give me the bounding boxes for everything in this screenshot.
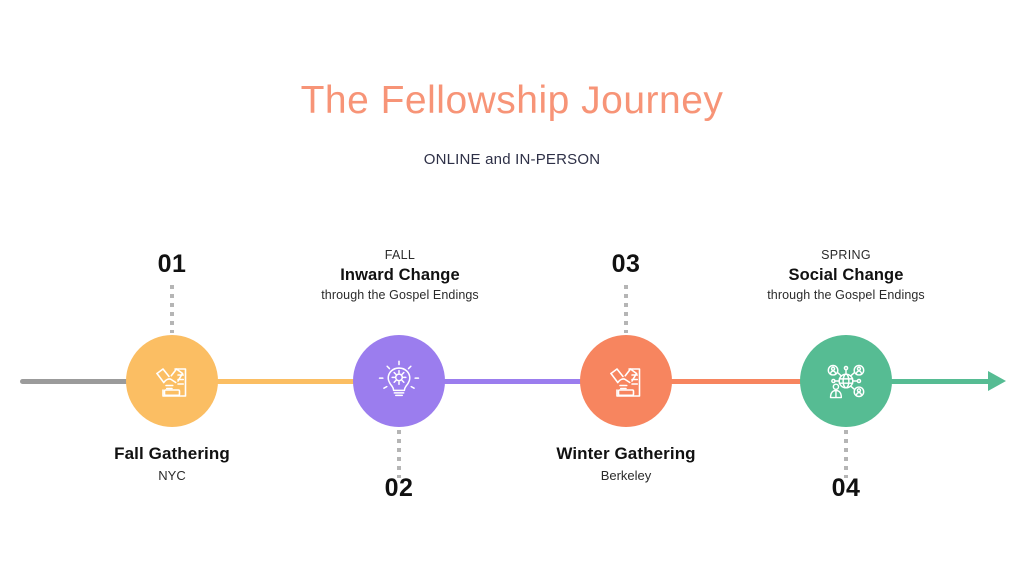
- step-number-04: 04: [776, 474, 916, 503]
- step-subtitle-04: through the Gospel Endings: [716, 286, 976, 304]
- page-subtitle: ONLINE and IN-PERSON: [0, 151, 1024, 168]
- handshake-contract-icon: [148, 357, 196, 405]
- arrow-right-icon: [988, 371, 1006, 391]
- step-connector-01: [170, 285, 174, 333]
- step-caption-04: SPRING Social Change through the Gospel …: [716, 246, 976, 305]
- slide-canvas: The Fellowship Journey ONLINE and IN-PER…: [0, 0, 1024, 576]
- lightbulb-gear-icon: [376, 358, 422, 404]
- timeline-node-02[interactable]: [353, 335, 445, 427]
- step-caption-02: FALL Inward Change through the Gospel En…: [270, 246, 530, 305]
- step-title-01: Fall Gathering: [42, 443, 302, 466]
- step-caption-03: Winter Gathering Berkeley: [496, 443, 756, 487]
- step-connector-02: [397, 430, 401, 478]
- step-eyebrow-02: FALL: [270, 246, 530, 264]
- step-eyebrow-04: SPRING: [716, 246, 976, 264]
- step-number-01: 01: [102, 250, 242, 279]
- step-caption-01: Fall Gathering NYC: [42, 443, 302, 487]
- step-title-02: Inward Change: [270, 264, 530, 286]
- step-place-03: Berkeley: [496, 466, 756, 487]
- step-title-04: Social Change: [716, 264, 976, 286]
- step-connector-04: [844, 430, 848, 478]
- people-network-icon: [823, 358, 869, 404]
- handshake-contract-icon: [602, 357, 650, 405]
- step-subtitle-02: through the Gospel Endings: [270, 286, 530, 304]
- step-title-03: Winter Gathering: [496, 443, 756, 466]
- step-number-02: 02: [329, 474, 469, 503]
- timeline-node-01[interactable]: [126, 335, 218, 427]
- timeline-node-04[interactable]: [800, 335, 892, 427]
- timeline-node-03[interactable]: [580, 335, 672, 427]
- page-title: The Fellowship Journey: [0, 80, 1024, 123]
- step-place-01: NYC: [42, 466, 302, 487]
- step-number-03: 03: [556, 250, 696, 279]
- step-connector-03: [624, 285, 628, 333]
